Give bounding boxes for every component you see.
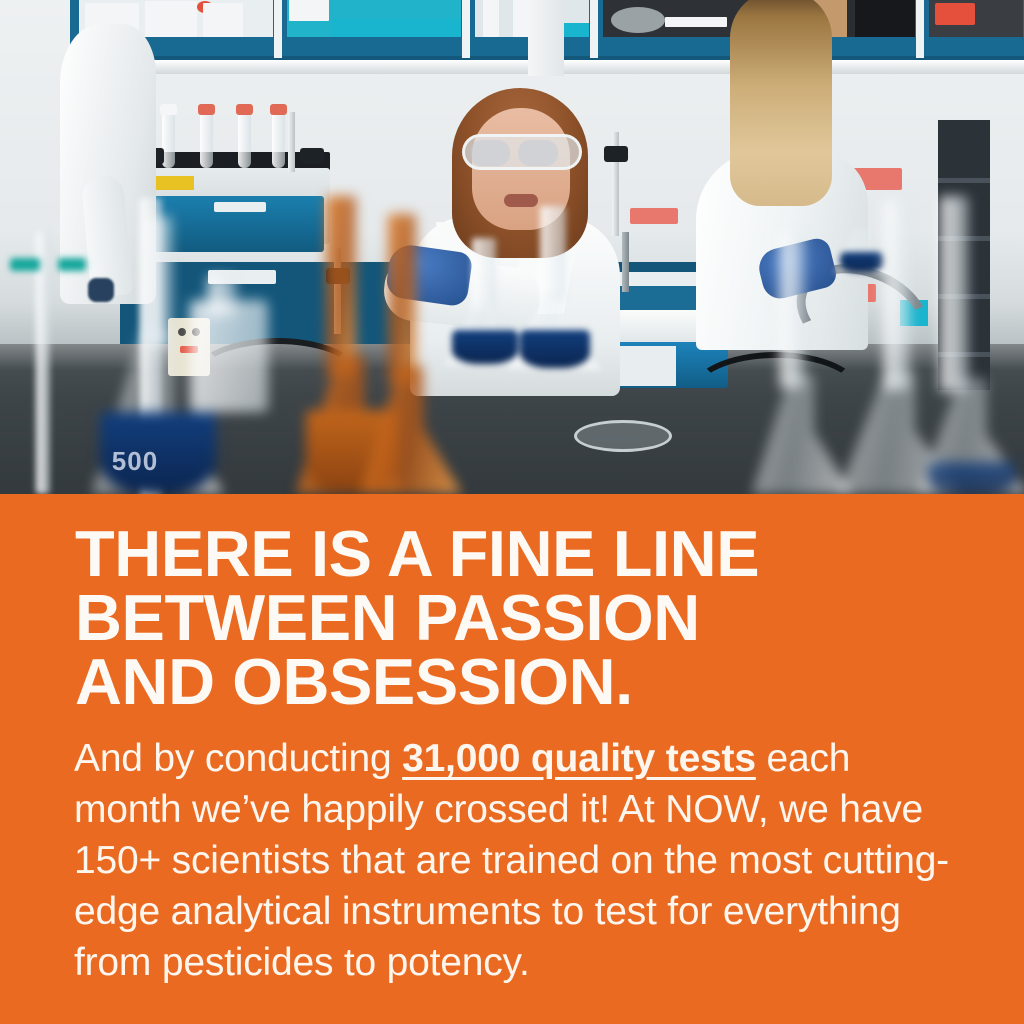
body-copy: And by conducting 31,000 quality tests e… bbox=[74, 733, 952, 988]
laboratory-scientists-photo: 500 bbox=[0, 0, 1024, 494]
blue-liquid bbox=[928, 462, 1016, 494]
volumetric-flask bbox=[752, 374, 852, 494]
flask-neck bbox=[146, 216, 172, 346]
flask-neck-amber bbox=[388, 214, 416, 384]
photo-scene: 500 bbox=[0, 0, 1024, 494]
quality-tests-highlight: 31,000 quality tests bbox=[402, 737, 756, 780]
social-graphic-canvas: 500 THERE IS A FINE LINE BETWEEN PASSION… bbox=[0, 0, 1024, 1024]
flask-neck bbox=[884, 200, 910, 390]
flask-volume-label: 500 bbox=[92, 446, 178, 476]
page-title: THERE IS A FINE LINE BETWEEN PASSION AND… bbox=[75, 522, 955, 714]
wash-bottle bbox=[190, 300, 268, 412]
flask-neck-amber bbox=[326, 196, 356, 376]
foreground-glassware-heavy-blur bbox=[0, 0, 1024, 494]
petri-dish bbox=[574, 420, 672, 452]
body-copy-part-1: And by conducting bbox=[74, 737, 402, 780]
flask-neck bbox=[940, 196, 968, 392]
flask-neck bbox=[780, 232, 804, 388]
